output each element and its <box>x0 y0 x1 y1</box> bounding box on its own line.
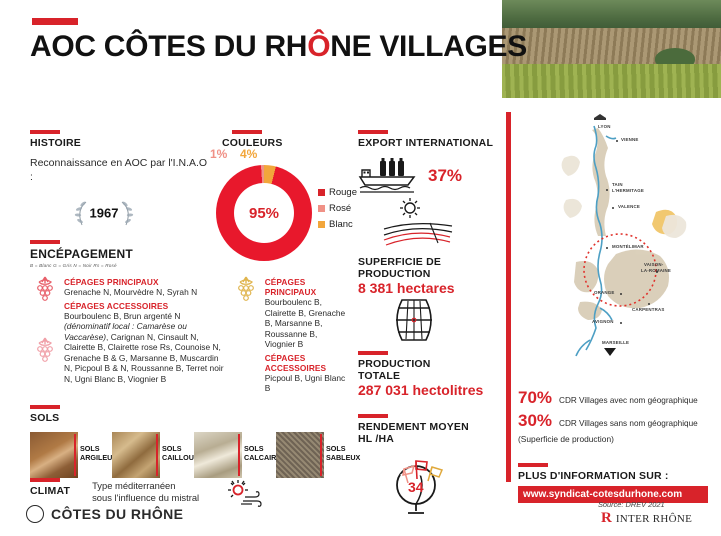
map-label-vienne: VIENNE <box>621 137 639 142</box>
climat-line2: sous l'influence du mistral <box>92 492 199 503</box>
map-label-avignon: AVIGNON <box>592 319 614 324</box>
map-label-vaison: VAISON- <box>644 262 663 267</box>
sun-field-icon <box>380 234 456 251</box>
grape-cluster-icon <box>32 336 58 366</box>
sol-accent-bar <box>74 434 76 476</box>
export-percentage: 37% <box>428 166 462 186</box>
map-label-marseille: MARSEILLE <box>602 340 629 345</box>
title-accent-rule <box>32 18 78 25</box>
sol-accent-bar <box>238 434 240 476</box>
sols-heading: SOLS <box>30 412 350 424</box>
rhone-valley-map: LYON VIENNE TAIN L'HERMITAGE VALENCE MON… <box>520 112 720 372</box>
sol-item-calcaires: SOLS CALCAIRES <box>194 432 268 478</box>
legend-swatch-blanc <box>318 221 325 228</box>
sol-label-line1: SOLS <box>80 444 100 453</box>
seal-icon <box>26 505 44 523</box>
sun-wind-icon <box>221 478 267 508</box>
production-heading-line2: TOTALE <box>358 370 498 382</box>
inter-rhone-logo: R INTER RHÔNE <box>601 510 692 527</box>
sol-label-line1: SOLS <box>162 444 182 453</box>
soil-photo-calcaires <box>194 432 242 478</box>
share-row-70: 70% CDR Villages avec nom géographique <box>518 388 718 408</box>
share-row-30: 30% CDR Villages sans nom géographique <box>518 411 718 431</box>
legend-item-rouge: Rouge <box>318 187 357 198</box>
sol-label-sableux: SOLS SABLEUX <box>326 444 360 462</box>
soil-photo-caillouteux <box>112 432 160 478</box>
histoire-year: 1967 <box>90 206 119 221</box>
soil-photo-argileux <box>30 432 78 478</box>
section-climat: CLIMAT Type méditerranéen sous l'influen… <box>30 478 360 508</box>
section-rule <box>30 405 60 409</box>
sol-item-argileux: SOLS ARGILEUX <box>30 432 104 478</box>
rendement-heading-line1: RENDEMENT MOYEN <box>358 421 498 433</box>
map-label-hermitage: L'HERMITAGE <box>612 188 644 193</box>
share-percentage-70: 70% <box>518 388 552 408</box>
section-rule <box>30 130 60 134</box>
encepagement-heading: ENCÉPAGEMENT <box>30 247 350 261</box>
map-label-valence: VALENCE <box>618 204 640 209</box>
red-principaux-heading: CÉPAGES PRINCIPAUX <box>64 277 225 287</box>
red-accessoires-line1: Bourboulenc B, Brun argenté N <box>64 311 180 321</box>
cdr-villages-shares: 70% CDR Villages avec nom géographique 3… <box>518 388 718 444</box>
legend-label-rouge: Rouge <box>329 187 357 198</box>
superficie-value: 8 381 hectares <box>358 280 498 296</box>
section-histoire: HISTOIRE Reconnaissance en AOC par l'I.N… <box>30 130 210 228</box>
brand-name-text: CÔTES DU RHÔNE <box>51 506 183 522</box>
page-title-accent-letter: Ô <box>307 30 330 63</box>
cotes-du-rhone-logo: CÔTES DU RHÔNE <box>26 505 183 523</box>
donut-label-rose: 1% <box>210 147 227 161</box>
legend-swatch-rose <box>318 205 325 212</box>
production-value: 287 031 hectolitres <box>358 382 498 398</box>
cargo-ship-icon <box>358 157 420 195</box>
share-percentage-30: 30% <box>518 411 552 431</box>
more-info-block: PLUS D'INFORMATION SUR : www.syndicat-co… <box>518 463 714 503</box>
encepagement-column-red: CÉPAGES PRINCIPAUX Grenache N, Mourvèdre… <box>30 274 225 394</box>
globe-flags-icon: 34 <box>382 449 454 517</box>
legend-label-rose: Rosé <box>329 203 351 214</box>
legend-swatch-rouge <box>318 189 325 196</box>
page-title-part2: NE VILLAGES <box>330 30 527 63</box>
soil-photo-sableux <box>276 432 324 478</box>
couleurs-legend: Rouge Rosé Blanc <box>318 187 357 235</box>
white-principaux-list: Bourboulenc B, Clairette B, Grenache B, … <box>265 297 350 350</box>
sol-label-line1: SOLS <box>326 444 346 453</box>
climat-heading-block: CLIMAT <box>30 478 70 497</box>
share-note: (Superficie de production) <box>518 434 718 444</box>
infographic-page: AOC CÔTES DU RHÔNE VILLAGES HISTOIRE Rec… <box>0 0 721 536</box>
share-label-70: CDR Villages avec nom géographique <box>559 396 698 405</box>
vineyard-photo <box>502 0 721 98</box>
white-principaux-heading: CÉPAGES PRINCIPAUX <box>265 277 350 297</box>
svg-text:34: 34 <box>408 479 424 495</box>
map-label-lyon: LYON <box>598 124 611 129</box>
sol-label-line2: SABLEUX <box>326 453 360 462</box>
section-rendement: RENDEMENT MOYEN HL /HA 34 <box>358 414 498 517</box>
right-panel-accent-rail <box>506 112 511 482</box>
donut-label-blanc: 4% <box>240 147 257 161</box>
section-rule <box>358 351 388 355</box>
laurel-wreath-icon: 1967 <box>58 198 150 228</box>
production-heading-line1: PRODUCTION <box>358 358 498 370</box>
share-label-30: CDR Villages sans nom géographique <box>559 419 698 428</box>
section-rule <box>30 478 60 482</box>
section-sols: SOLS SOLS ARGILEUX SOLS CAILLOUTEUX <box>30 405 350 478</box>
page-title: AOC CÔTES DU RHÔNE VILLAGES <box>30 30 527 64</box>
red-principaux-list: Grenache N, Mourvèdre N, Syrah N <box>64 287 225 298</box>
sol-item-caillouteux: SOLS CAILLOUTEUX <box>112 432 186 478</box>
section-rule <box>518 463 548 467</box>
inter-rhone-initial: R <box>601 510 612 527</box>
section-superficie: SUPERFICIE DE PRODUCTION 8 381 hectares <box>358 256 498 296</box>
histoire-heading: HISTOIRE <box>30 137 210 149</box>
climat-heading: CLIMAT <box>30 485 70 497</box>
inter-rhone-name: INTER RHÔNE <box>616 513 692 525</box>
section-rule <box>358 414 388 418</box>
map-label-carpentras: CARPENTRAS <box>632 307 665 312</box>
map-label-montelimar: MONTÉLIMAR <box>612 244 644 249</box>
grape-cluster-icon <box>233 275 259 305</box>
encepagement-column-white: CÉPAGES PRINCIPAUX Bourboulenc B, Claire… <box>231 274 350 394</box>
sol-accent-bar <box>320 434 322 476</box>
brand-name: CÔTES DU RHÔNE <box>51 506 183 522</box>
grape-cluster-icon <box>32 275 58 305</box>
rendement-heading-line2: HL /HA <box>358 433 498 445</box>
map-label-tain: TAIN <box>612 182 623 187</box>
red-accessoires-heading: CÉPAGES ACCESSOIRES <box>64 301 225 311</box>
superficie-heading: SUPERFICIE DE PRODUCTION <box>358 256 498 280</box>
section-rule <box>358 130 388 134</box>
sol-label-line1: SOLS <box>244 444 264 453</box>
page-title-part1: AOC CÔTES DU RH <box>30 30 307 63</box>
legend-item-blanc: Blanc <box>318 219 357 230</box>
red-accessoires-list: Bourboulenc B, Brun argenté N (dénominat… <box>64 311 225 385</box>
section-export: EXPORT INTERNATIONAL <box>358 130 498 195</box>
sol-item-sableux: SOLS SABLEUX <box>276 432 350 478</box>
white-accessoires-list: Picpoul B, Ugni Blanc B <box>265 373 350 394</box>
climat-description: Type méditerranéen sous l'influence du m… <box>92 480 199 504</box>
sol-accent-bar <box>156 434 158 476</box>
stats-column: EXPORT INTERNATIONAL <box>358 130 498 517</box>
encepagement-color-key: B = Blanc G = Gris N = Noir Rs = Rosé <box>30 263 350 268</box>
section-rule <box>30 240 60 244</box>
export-heading: EXPORT INTERNATIONAL <box>358 137 498 149</box>
map-label-la-romaine: LA-ROMAINE <box>641 268 671 273</box>
white-accessoires-heading: CÉPAGES ACCESSOIRES <box>265 353 350 373</box>
wine-barrel-icon <box>388 331 440 348</box>
section-rule <box>232 130 262 134</box>
photo-treeline <box>502 0 721 30</box>
legend-label-blanc: Blanc <box>329 219 353 230</box>
legend-item-rose: Rosé <box>318 203 357 214</box>
source-note: Source: DREV 2021 <box>598 500 665 509</box>
more-info-heading: PLUS D'INFORMATION SUR : <box>518 470 714 482</box>
climat-line1: Type méditerranéen <box>92 480 175 491</box>
histoire-text: Reconnaissance en AOC par l'I.N.A.O : <box>30 156 210 184</box>
section-encepagement: ENCÉPAGEMENT B = Blanc G = Gris N = Noir… <box>30 240 350 394</box>
map-label-orange: ORANGE <box>594 290 614 295</box>
section-production: PRODUCTION TOTALE 287 031 hectolitres <box>358 351 498 398</box>
photo-foreground-grass <box>502 64 721 98</box>
